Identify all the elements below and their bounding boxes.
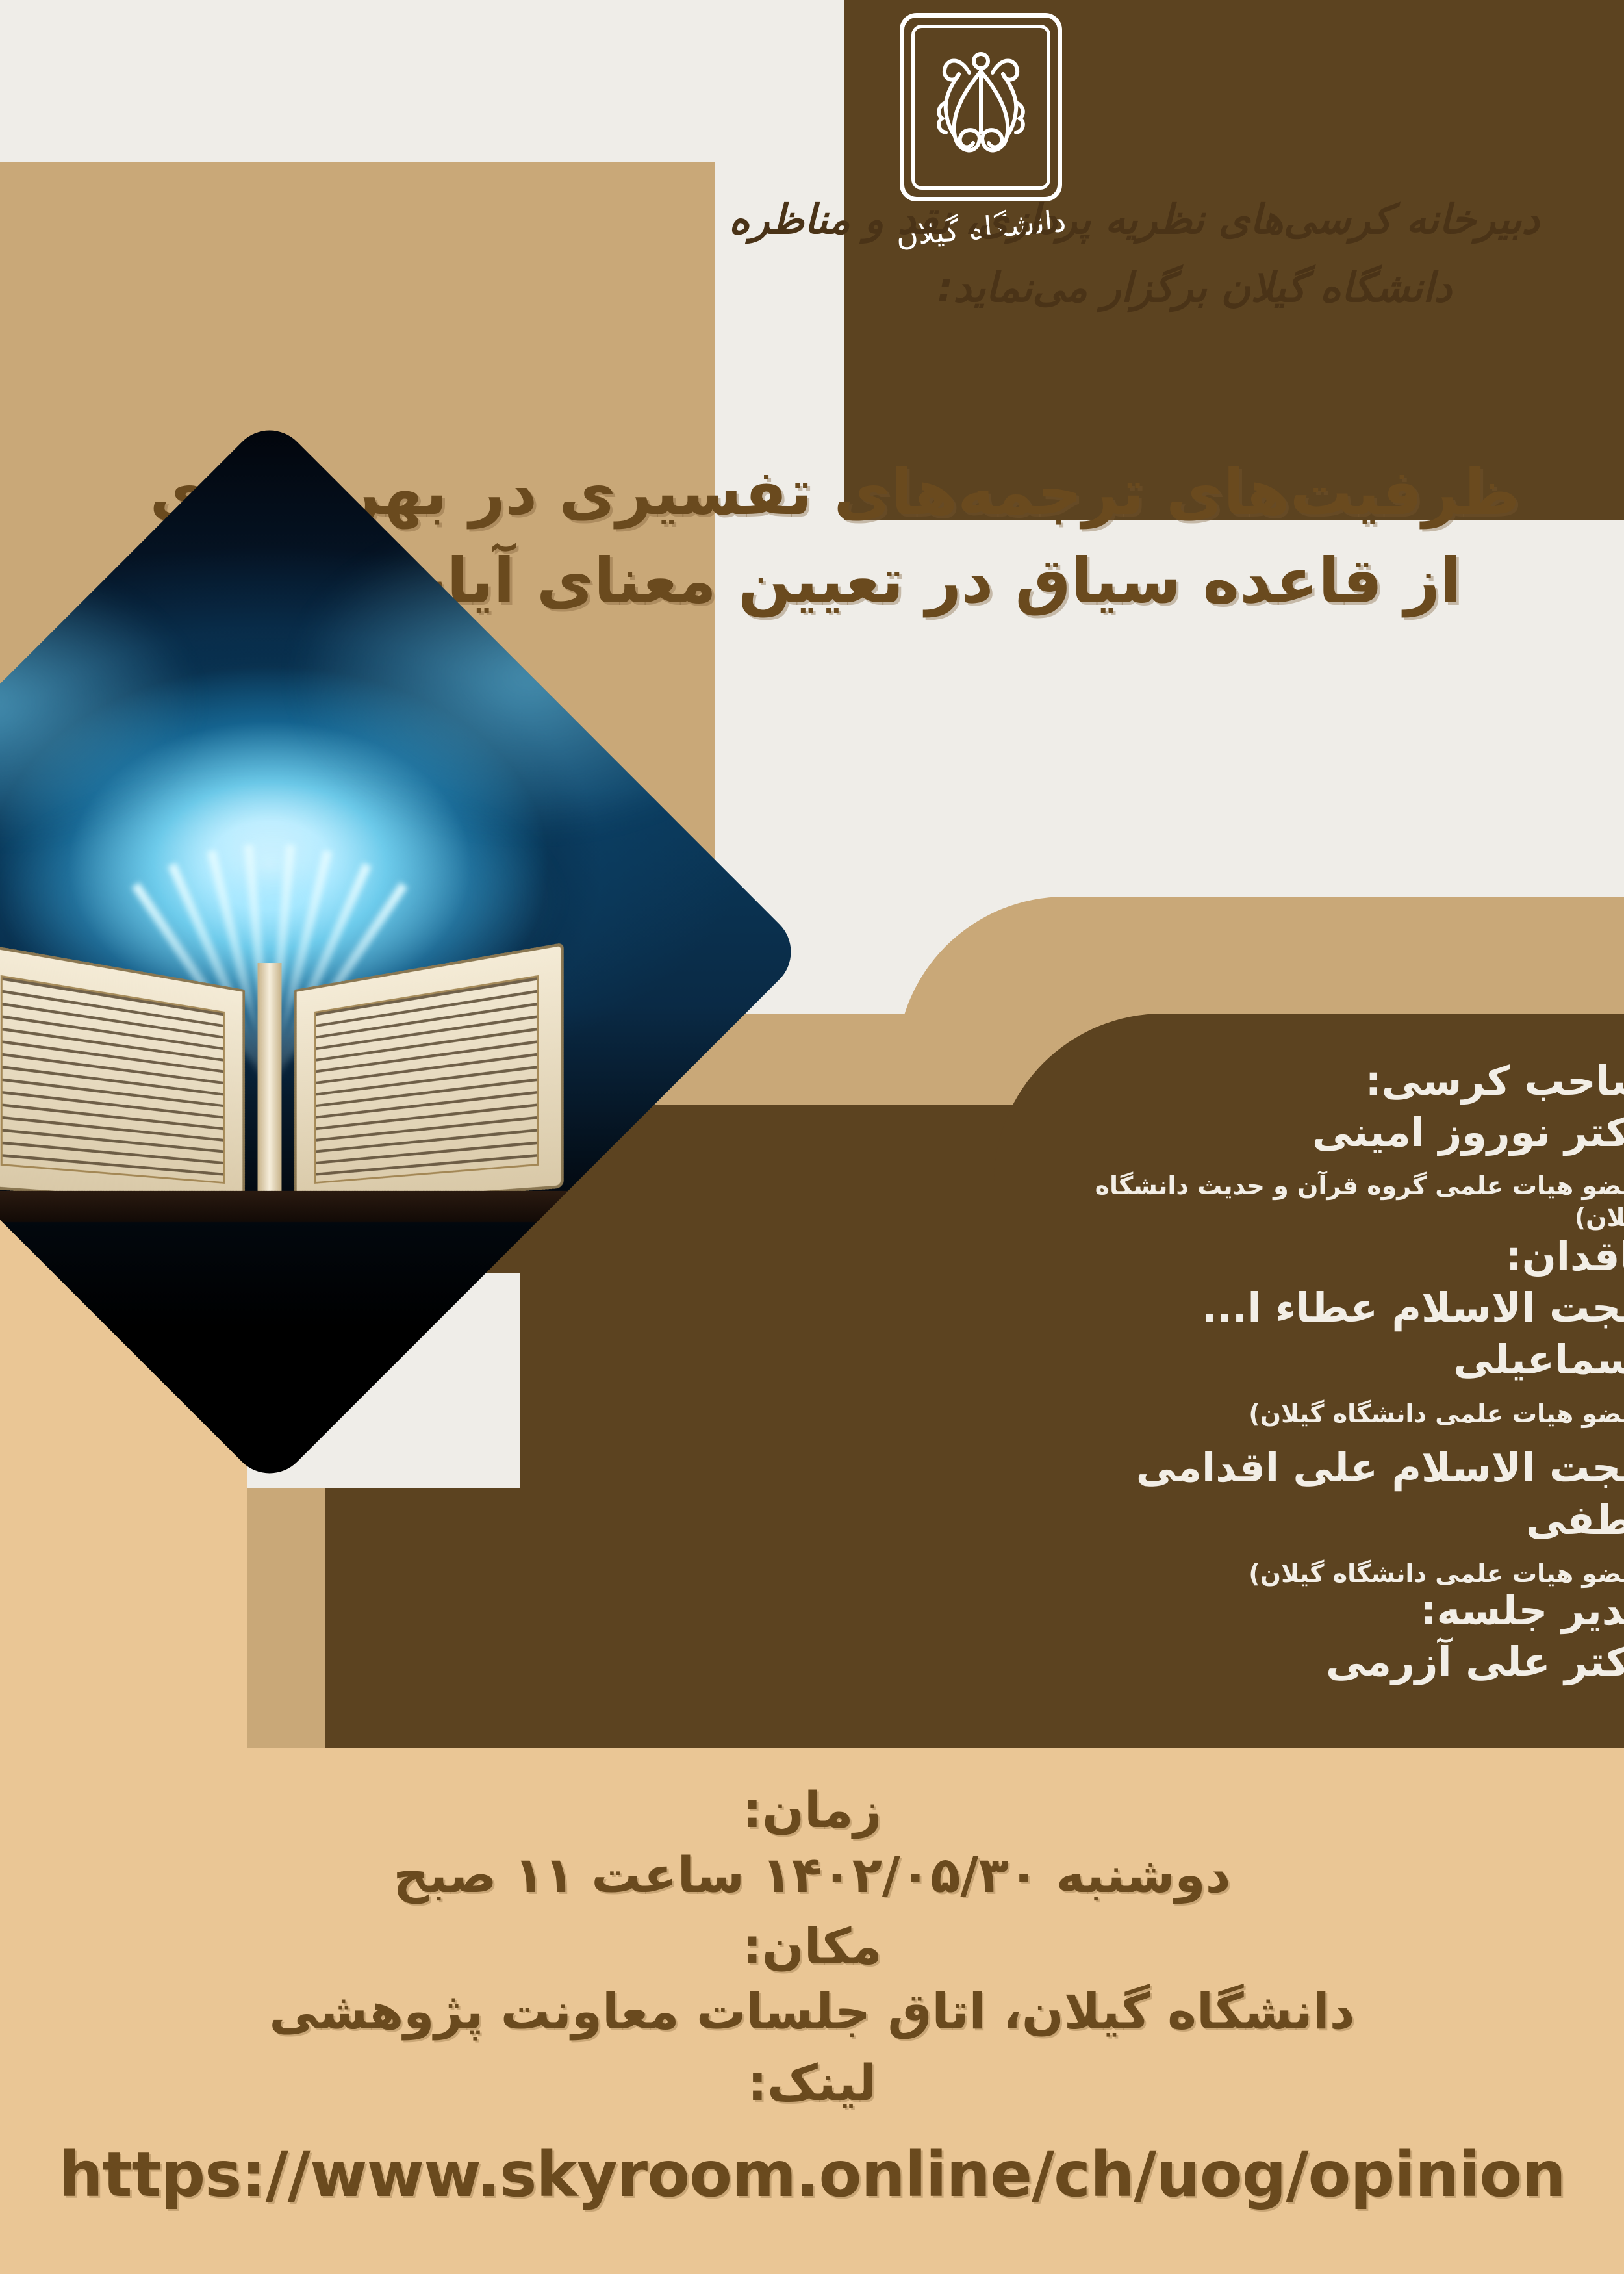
time-value: دوشنبه ۱۴۰۲/۰۵/۳۰ ساعت ۱۱ صبح (0, 1844, 1624, 1906)
place-label: مکان: (0, 1917, 1624, 1976)
critic-name-2: حجت الاسلام علی اقدامی تطفی (1013, 1442, 1624, 1546)
meeting-link[interactable]: https://www.skyroom.online/ch/uog/opinio… (0, 2138, 1624, 2212)
moderator-section: مدیر جلسه: دکتر علی آزرمی (1013, 1585, 1624, 1688)
link-label: لینک: (0, 2053, 1624, 2112)
university-emblem-icon (900, 13, 1062, 201)
event-poster: دانشگاه گیلان دبیرخانه کرسی‌های نظریه پر… (0, 0, 1624, 2274)
critic-name-1: حجت الاسلام عطاء ا... اسماعیلی (1013, 1282, 1624, 1386)
critics-section: ناقدان: حجت الاسلام عطاء ا... اسماعیلی (… (1013, 1231, 1624, 1591)
chair-affiliation: (عضو هیات علمی گروه قرآن و حدیث دانشگاه … (1013, 1170, 1624, 1234)
critics-label: ناقدان: (1013, 1231, 1624, 1282)
chair-name: دکتر نوروز امینی (1013, 1106, 1624, 1159)
critic-affiliation-1: (عضو هیات علمی دانشگاه گیلان) (1013, 1398, 1624, 1430)
organizer-line-1: دبیرخانه کرسی‌های نظریه پردازی، نقد و من… (729, 188, 1540, 251)
moderator-label: مدیر جلسه: (1013, 1585, 1624, 1636)
chair-section: صاحب کرسی: دکتر نوروز امینی (عضو هیات عل… (1013, 1056, 1624, 1234)
place-value: دانشگاه گیلان، اتاق جلسات معاونت پژوهشی (0, 1980, 1624, 2042)
organizer-line-2: دانشگاه گیلان برگزار می‌نماید: (937, 257, 1452, 319)
chair-label: صاحب کرسی: (1013, 1056, 1624, 1106)
moderator-name: دکتر علی آزرمی (1013, 1636, 1624, 1689)
time-label: زمان: (0, 1780, 1624, 1839)
